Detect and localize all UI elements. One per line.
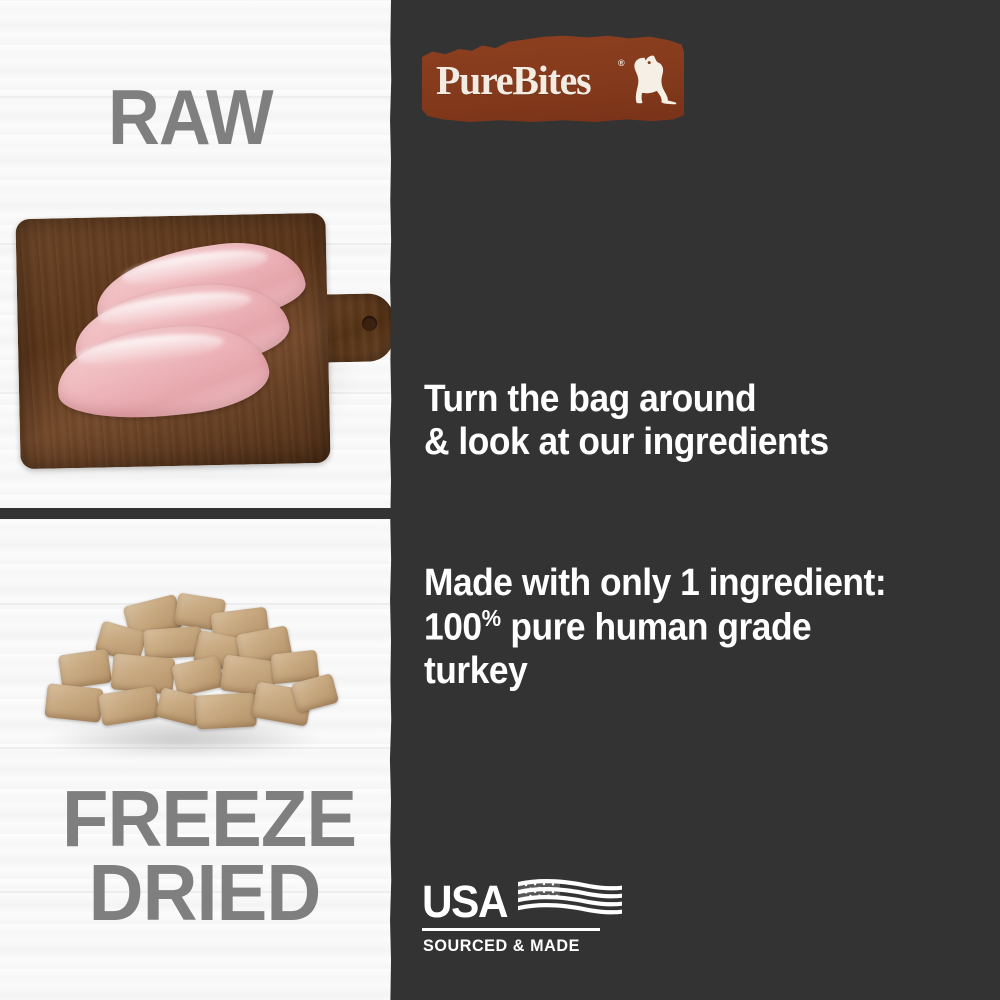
handle-hole [362, 316, 377, 331]
pile-shadow [42, 720, 324, 756]
percent-sign: % [482, 605, 501, 631]
slice-highlight [120, 244, 269, 291]
left-photo-column: RAW [0, 0, 392, 1000]
sitting-dog-icon [620, 51, 682, 118]
percent-value: 100 [424, 607, 482, 649]
message-block-2: Made with only 1 ingredient: 100% pure h… [424, 562, 982, 694]
usa-word: USA [422, 876, 507, 928]
turkey-chunk [44, 683, 103, 723]
usa-divider-rule [422, 928, 600, 931]
raw-turkey-photo [8, 212, 388, 487]
message-1-line-1: Turn the bag around [424, 378, 982, 421]
usa-badge: USA [422, 876, 622, 922]
usa-subtitle: SOURCED & MADE [423, 936, 580, 956]
american-flag-icon [516, 878, 624, 925]
freeze-dried-photo [26, 594, 346, 764]
turkey-chunk [58, 649, 112, 690]
message-2-line-3: turkey [424, 650, 982, 693]
turkey-chunk [195, 692, 257, 729]
message-block-1: Turn the bag around & look at our ingred… [424, 378, 982, 465]
raw-panel: RAW [0, 0, 392, 513]
purebites-logo[interactable]: PureBites ® [422, 34, 684, 128]
cutting-board [15, 213, 330, 469]
message-1-line-2: & look at our ingredients [424, 421, 982, 464]
logo-wordmark: PureBites [436, 56, 590, 104]
message-2-line-2: 100% pure human grade [424, 605, 982, 650]
message-2-line-1: Made with only 1 ingredient: [424, 562, 982, 605]
panel-divider [0, 508, 392, 519]
freeze-dried-label-line2: DRIED [62, 856, 347, 930]
right-message-column: PureBites ® Turn the bag around & look a… [392, 0, 1000, 1000]
usa-badge-row: USA [422, 876, 622, 922]
message-2-line-2-suffix: pure human grade [501, 607, 811, 649]
raw-label: RAW [108, 82, 273, 154]
product-infographic: RAW [0, 0, 1000, 1000]
freeze-dried-label: FREEZE DRIED [62, 782, 347, 929]
